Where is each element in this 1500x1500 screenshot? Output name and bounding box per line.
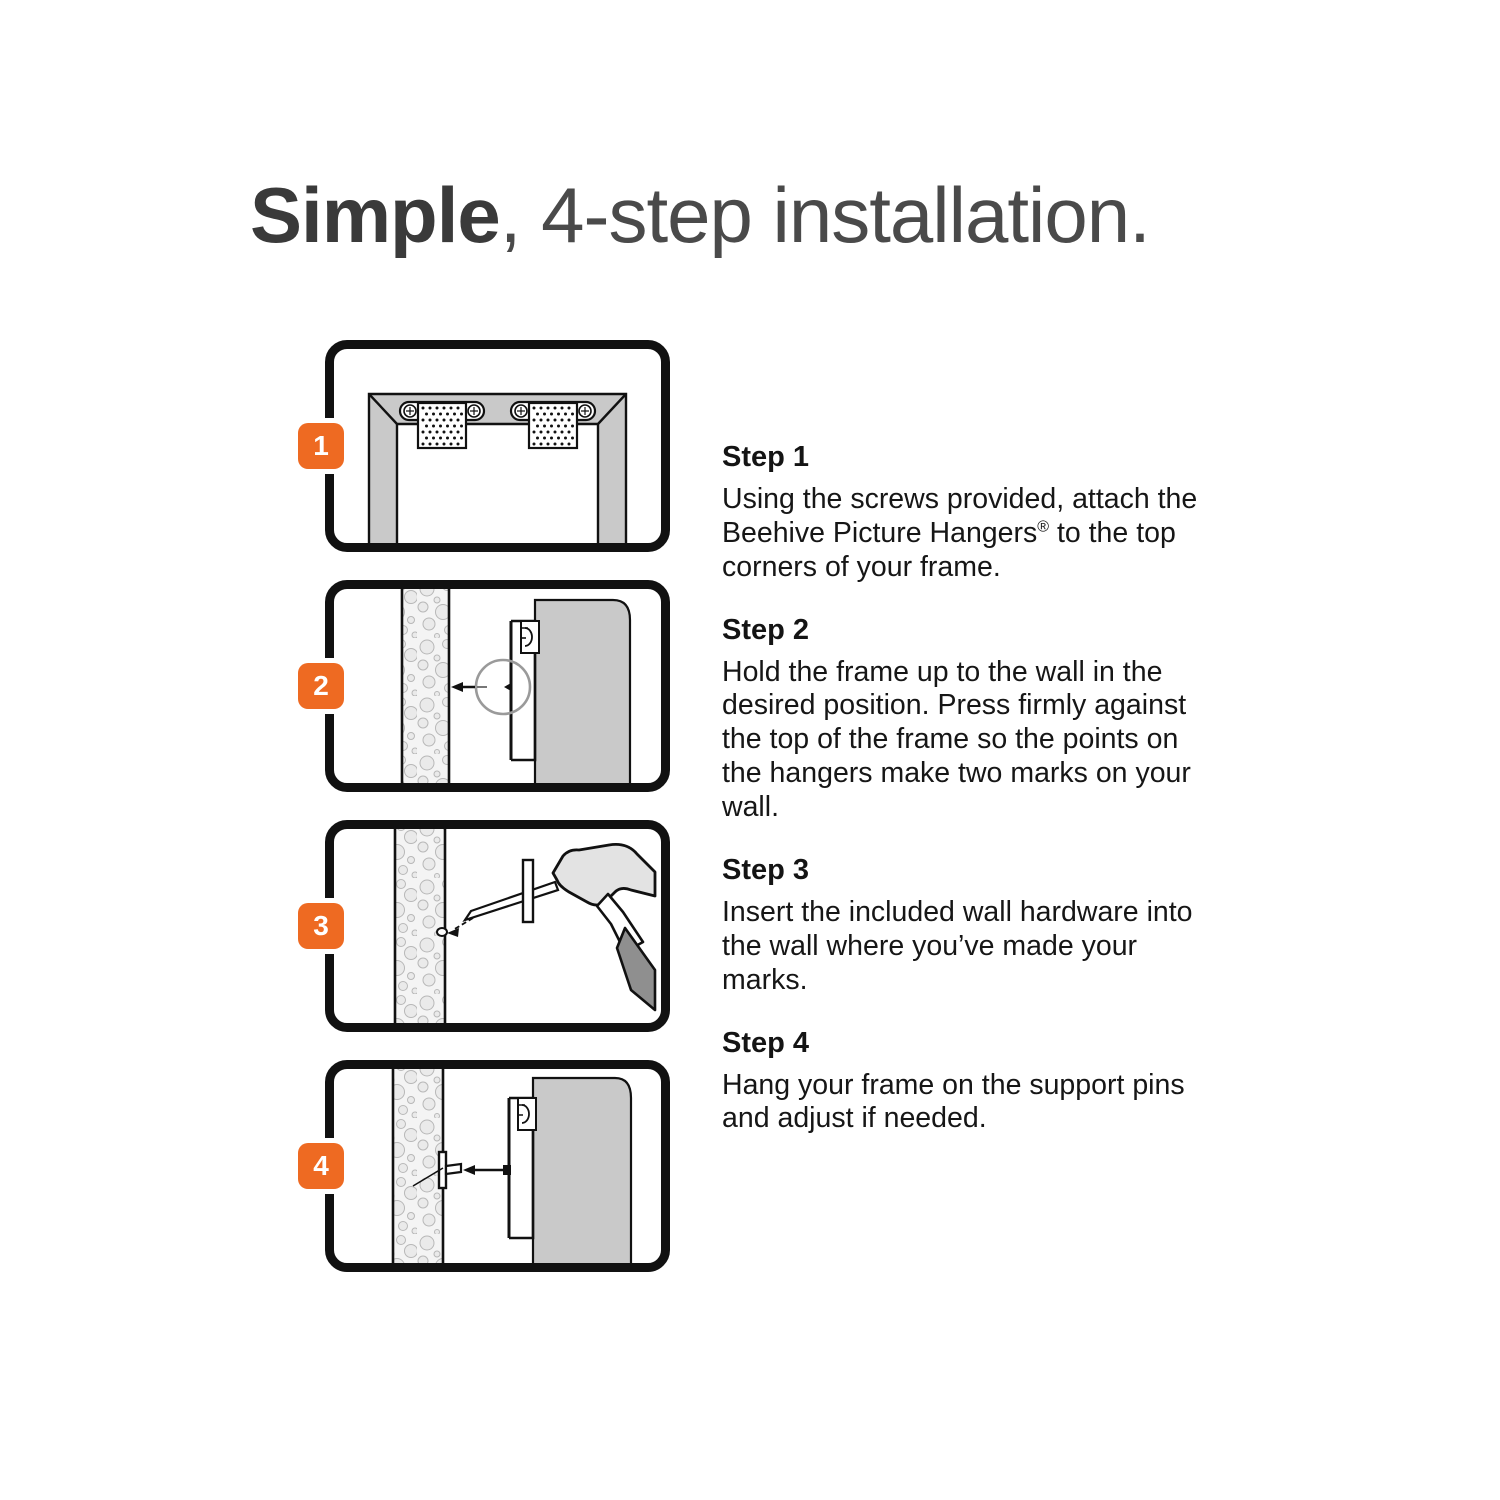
step-1-block: Step 1 Using the screws provided, attach… bbox=[722, 442, 1222, 585]
panel-4-frame bbox=[325, 1060, 670, 1272]
step-badge-3: 3 bbox=[298, 903, 344, 949]
step-1-body-line2b: to the bbox=[1049, 517, 1128, 549]
step-badge-1: 1 bbox=[298, 423, 344, 469]
page-title-light: , 4-step installation. bbox=[500, 171, 1150, 259]
step-4-heading: Step 4 bbox=[722, 1028, 1222, 1060]
step-2-body: Hold the frame up to the wall in the des… bbox=[722, 656, 1222, 826]
step-1-body: Using the screws provided, attach the Be… bbox=[722, 483, 1222, 585]
step-badge-4: 4 bbox=[298, 1143, 344, 1189]
alignment-arrow-left bbox=[463, 1165, 509, 1175]
wall-mark-point bbox=[437, 928, 447, 936]
picture-frame-side-view bbox=[503, 1078, 631, 1272]
registered-trademark-symbol: ® bbox=[1037, 518, 1049, 535]
insert-direction-arrow bbox=[447, 918, 473, 937]
panel-4-illustration-svg bbox=[325, 1060, 670, 1272]
step-3-body: Insert the included wall hardware into t… bbox=[722, 896, 1222, 998]
illustration-panel-4: 4 bbox=[325, 1060, 670, 1272]
step-1-body-line1: Using the screws provided, attach bbox=[722, 483, 1150, 515]
instruction-step-list: Step 1 Using the screws provided, attach… bbox=[722, 442, 1222, 1136]
illustration-panel-1: 1 bbox=[325, 340, 670, 552]
page-title-text: Simple, 4-step installation. bbox=[250, 176, 1150, 254]
direction-arrow-left bbox=[451, 682, 475, 692]
step-2-block: Step 2 Hold the frame up to the wall in … bbox=[722, 615, 1222, 825]
step-4-block: Step 4 Hang your frame on the support pi… bbox=[722, 1028, 1222, 1137]
panel-1-illustration-svg bbox=[325, 340, 670, 552]
wall-pin-nail bbox=[465, 860, 558, 922]
panel-1-frame bbox=[325, 340, 670, 552]
illustration-panel-2: 2 bbox=[325, 580, 670, 792]
page-title-bold: Simple bbox=[250, 171, 500, 259]
step-4-body: Hang your frame on the support pins and … bbox=[722, 1069, 1222, 1137]
step-3-block: Step 3 Insert the included wall hardware… bbox=[722, 855, 1222, 998]
illustration-panel-3: 3 bbox=[325, 820, 670, 1032]
magnifier-circle bbox=[476, 660, 530, 714]
panel-3-illustration-svg bbox=[325, 820, 670, 1032]
page-title: Simple, 4-step installation. bbox=[250, 160, 1350, 270]
picture-frame-side-view bbox=[504, 600, 630, 792]
hammer-icon bbox=[553, 844, 655, 1010]
illustration-panel-list: 1 bbox=[325, 340, 675, 1300]
panel-2-illustration-svg bbox=[325, 580, 670, 792]
step-badge-2: 2 bbox=[298, 663, 344, 709]
panel-3-frame bbox=[325, 820, 670, 1032]
step-3-heading: Step 3 bbox=[722, 855, 1222, 887]
wall-cross-section bbox=[395, 820, 445, 1032]
step-1-heading: Step 1 bbox=[722, 442, 1222, 474]
panel-2-frame bbox=[325, 580, 670, 792]
step-2-heading: Step 2 bbox=[722, 615, 1222, 647]
wall-cross-section bbox=[393, 1060, 443, 1272]
wall-cross-section bbox=[402, 580, 449, 792]
